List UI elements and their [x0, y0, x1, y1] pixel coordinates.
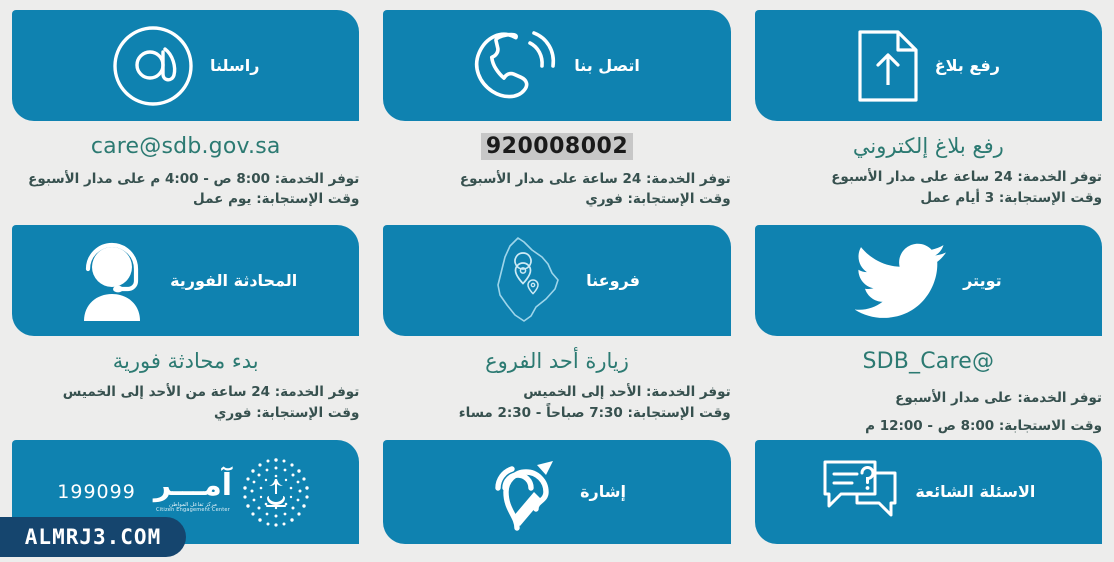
live-chat-title[interactable]: بدء محادثة فورية — [12, 348, 359, 374]
report-details: توفر الخدمة: 24 ساعة على مدار الأسبوع وق… — [755, 167, 1102, 209]
phone-ringing-icon — [474, 27, 558, 105]
report-tile-label: رفع بلاغ — [935, 58, 1000, 74]
call-us-availability: توفر الخدمة: 24 ساعة على مدار الأسبوع — [383, 169, 730, 190]
email-us-tile-label: راسلنا — [210, 58, 260, 74]
chat-question-icon — [821, 457, 899, 527]
branches-tile-label: فروعنا — [586, 273, 640, 289]
call-us-caption: 920008002 توفر الخدمة: 24 ساعة على مدار … — [383, 121, 730, 210]
call-us-phone-number-text: 920008002 — [481, 133, 633, 160]
branches-caption: زيارة أحد الفروع توفر الخدمة: الأحد إلى … — [383, 336, 730, 424]
faq-tile[interactable]: الاسئلة الشائعة — [755, 440, 1102, 544]
report-caption: رفع بلاغ إلكتروني توفر الخدمة: 24 ساعة ع… — [755, 121, 1102, 209]
card-report: رفع بلاغ رفع بلاغ إلكتروني توفر الخدمة: … — [743, 0, 1114, 215]
branches-response-time: وقت الإستجابة: 7:30 صباحاً - 2:30 مساء — [383, 403, 730, 424]
report-response-time: وقت الإستجابة: 3 أيام عمل — [755, 188, 1102, 209]
twitter-bird-icon — [855, 242, 947, 320]
saudi-map-pins-icon — [474, 233, 570, 329]
at-sign-icon — [112, 25, 194, 107]
branches-details: توفر الخدمة: الأحد إلى الخميس وقت الإستج… — [383, 382, 730, 424]
card-call-us: اتصل بنا 920008002 توفر الخدمة: 24 ساعة … — [371, 0, 742, 215]
twitter-caption: @SDB_Care توفر الخدمة: على مدار الأسبوع … — [755, 336, 1102, 440]
twitter-tile[interactable]: تويتر — [755, 225, 1102, 336]
sign-language-tile-label: إشارة — [580, 484, 626, 500]
card-faq: الاسئلة الشائعة — [743, 430, 1114, 562]
card-twitter: تويتر @SDB_Care توفر الخدمة: على مدار ال… — [743, 215, 1114, 430]
twitter-availability: توفر الخدمة: على مدار الأسبوع — [755, 384, 1102, 412]
amer-subtitle-english: Citizen Engagement Center — [156, 508, 230, 513]
twitter-tile-label: تويتر — [963, 273, 1002, 289]
call-us-tile-label: اتصل بنا — [574, 58, 640, 74]
watermark-text: ALMRJ3.COM — [25, 525, 161, 549]
amer-wordmark: آمـــر — [154, 471, 232, 501]
branches-tile[interactable]: فروعنا — [383, 225, 730, 336]
email-us-address[interactable]: care@sdb.gov.sa — [12, 133, 359, 161]
contact-channels-grid: رفع بلاغ رفع بلاغ إلكتروني توفر الخدمة: … — [0, 0, 1114, 557]
email-us-details: توفر الخدمة: 8:00 ص - 4:00 م على مدار ال… — [12, 169, 359, 211]
live-chat-caption: بدء محادثة فورية توفر الخدمة: 24 ساعة من… — [12, 336, 359, 424]
twitter-handle[interactable]: @SDB_Care — [755, 348, 1102, 376]
call-us-response-time: وقت الإستجابة: فوري — [383, 189, 730, 210]
live-chat-tile-label: المحادثة الفورية — [170, 273, 297, 289]
email-us-response-time: وقت الإستجابة: يوم عمل — [12, 189, 359, 210]
watermark-badge: ALMRJ3.COM — [0, 517, 186, 557]
sign-language-ear-icon — [488, 452, 564, 532]
email-us-caption: care@sdb.gov.sa توفر الخدمة: 8:00 ص - 4:… — [12, 121, 359, 210]
card-email-us: راسلنا care@sdb.gov.sa توفر الخدمة: 8:00… — [0, 0, 371, 215]
email-us-availability: توفر الخدمة: 8:00 ص - 4:00 م على مدار ال… — [12, 169, 359, 190]
live-chat-details: توفر الخدمة: 24 ساعة من الأحد إلى الخميس… — [12, 382, 359, 424]
amer-logo-icon: آمـــر مركز تفاعل المواطن Citizen Engage… — [154, 454, 314, 530]
live-chat-availability: توفر الخدمة: 24 ساعة من الأحد إلى الخميس — [12, 382, 359, 403]
live-chat-tile[interactable]: المحادثة الفورية — [12, 225, 359, 336]
call-us-tile[interactable]: اتصل بنا — [383, 10, 730, 121]
email-us-tile[interactable]: راسلنا — [12, 10, 359, 121]
sign-language-tile[interactable]: إشارة — [383, 440, 730, 544]
report-title[interactable]: رفع بلاغ إلكتروني — [755, 133, 1102, 159]
document-upload-icon — [857, 29, 919, 103]
report-availability: توفر الخدمة: 24 ساعة على مدار الأسبوع — [755, 167, 1102, 188]
card-branches: فروعنا زيارة أحد الفروع توفر الخدمة: الأ… — [371, 215, 742, 430]
headset-agent-icon — [74, 239, 154, 323]
card-live-chat: المحادثة الفورية بدء محادثة فورية توفر ا… — [0, 215, 371, 430]
card-sign-language: إشارة — [371, 430, 742, 562]
faq-tile-label: الاسئلة الشائعة — [915, 484, 1035, 500]
call-us-details: توفر الخدمة: 24 ساعة على مدار الأسبوع وق… — [383, 169, 730, 211]
call-us-phone-number[interactable]: 920008002 — [383, 133, 730, 161]
branches-availability: توفر الخدمة: الأحد إلى الخميس — [383, 382, 730, 403]
amer-phone-number: 199099 — [57, 481, 136, 503]
live-chat-response-time: وقت الإستجابة: فوري — [12, 403, 359, 424]
report-tile[interactable]: رفع بلاغ — [755, 10, 1102, 121]
branches-title[interactable]: زيارة أحد الفروع — [383, 348, 730, 374]
